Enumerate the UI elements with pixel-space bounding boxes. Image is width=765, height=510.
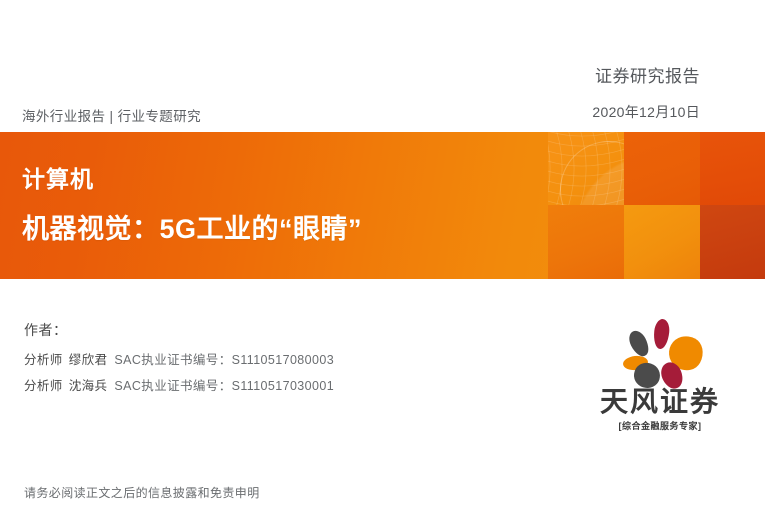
report-cover-page: 证券研究报告 2020年12月10日 海外行业报告 | 行业专题研究 — [0, 0, 765, 510]
petal-maroon-top — [652, 318, 670, 349]
decorative-deep-red-block — [700, 205, 765, 279]
title-banner: 计算机 机器视觉：5G工业的“眼睛” — [0, 132, 765, 279]
page-header: 证券研究报告 2020年12月10日 海外行业报告 | 行业专题研究 — [0, 0, 765, 132]
report-type-label: 证券研究报告 — [595, 62, 700, 87]
authors-section: 作者： 分析师缪欣君SAC执业证书编号：S1110517080003 分析师沈海… — [24, 320, 334, 401]
disclaimer-note: 请务必阅读正文之后的信息披露和免责申明 — [24, 484, 260, 501]
decorative-orange-block — [624, 132, 700, 205]
decorative-red-orange-block — [700, 132, 765, 205]
logo-company-name: 天风证券 — [580, 387, 740, 416]
page-title: 机器视觉：5G工业的“眼睛” — [22, 207, 362, 246]
pinwheel-flower-icon — [617, 318, 703, 386]
author-role: 分析师 — [24, 353, 63, 367]
sector-label: 计算机 — [22, 160, 94, 194]
decorative-amber-block — [548, 205, 624, 279]
author-certificate: SAC执业证书编号：S1110517080003 — [114, 353, 334, 367]
breadcrumb: 海外行业报告 | 行业专题研究 — [22, 105, 201, 125]
decorative-mesh-block — [548, 132, 624, 205]
petal-gray-upper-left — [626, 328, 653, 359]
author-certificate: SAC执业证书编号：S1110517030001 — [114, 379, 334, 393]
decorative-bright-amber-block — [624, 205, 700, 279]
authors-label: 作者： — [24, 320, 334, 340]
author-name: 缪欣君 — [69, 353, 108, 367]
author-row: 分析师缪欣君SAC执业证书编号：S1110517080003 — [24, 349, 334, 368]
company-logo: 天风证券 [综合金融服务专家] — [580, 318, 740, 458]
decorative-block-grid — [548, 132, 765, 279]
author-role: 分析师 — [24, 379, 63, 393]
author-name: 沈海兵 — [69, 379, 108, 393]
report-date-label: 2020年12月10日 — [592, 102, 700, 122]
author-row: 分析师沈海兵SAC执业证书编号：S1110517030001 — [24, 375, 334, 394]
logo-tagline: [综合金融服务专家] — [580, 419, 740, 432]
